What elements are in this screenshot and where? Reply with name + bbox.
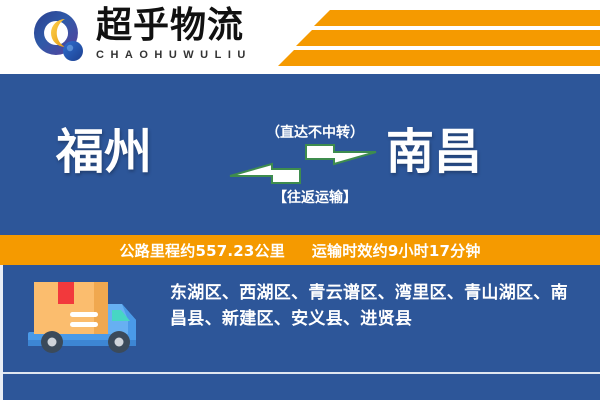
origin-city: 福州 xyxy=(56,124,152,180)
distance-label: 公路里程约557.23公里 xyxy=(119,242,284,260)
brand-name-en: CHAOHUWULIU xyxy=(96,48,252,62)
bidirectional-arrow-icon xyxy=(228,142,378,186)
info-bar: 公路里程约557.23公里 运输时效约9小时17分钟 xyxy=(0,235,600,265)
route-note-roundtrip: 【往返运输】 xyxy=(245,187,385,207)
bottom-divider xyxy=(3,372,600,374)
logistics-route-banner: 超乎物流 CHAOHUWULIU 福州 南昌 （直达不中转） 【往返运输】 公路… xyxy=(0,0,600,400)
brand-block: 超乎物流 CHAOHUWULIU xyxy=(96,6,252,62)
header-bar: 超乎物流 CHAOHUWULIU xyxy=(0,0,600,74)
coverage-districts: 东湖区、西湖区、青云谱区、湾里区、青山湖区、南昌县、新建区、安义县、进贤县 xyxy=(170,280,580,332)
brand-name-cn: 超乎物流 xyxy=(96,6,252,46)
delivery-truck-icon xyxy=(24,278,150,358)
info-bar-text: 公路里程约557.23公里 运输时效约9小时17分钟 xyxy=(119,240,480,261)
duration-label: 运输时效约9小时17分钟 xyxy=(312,242,481,260)
orange-speed-stripes-icon xyxy=(270,0,600,74)
destination-city: 南昌 xyxy=(386,124,482,180)
left-edge-accent xyxy=(0,265,3,400)
circle-crescent-logo-icon xyxy=(32,9,88,65)
route-note-direct: （直达不中转） xyxy=(245,122,385,142)
